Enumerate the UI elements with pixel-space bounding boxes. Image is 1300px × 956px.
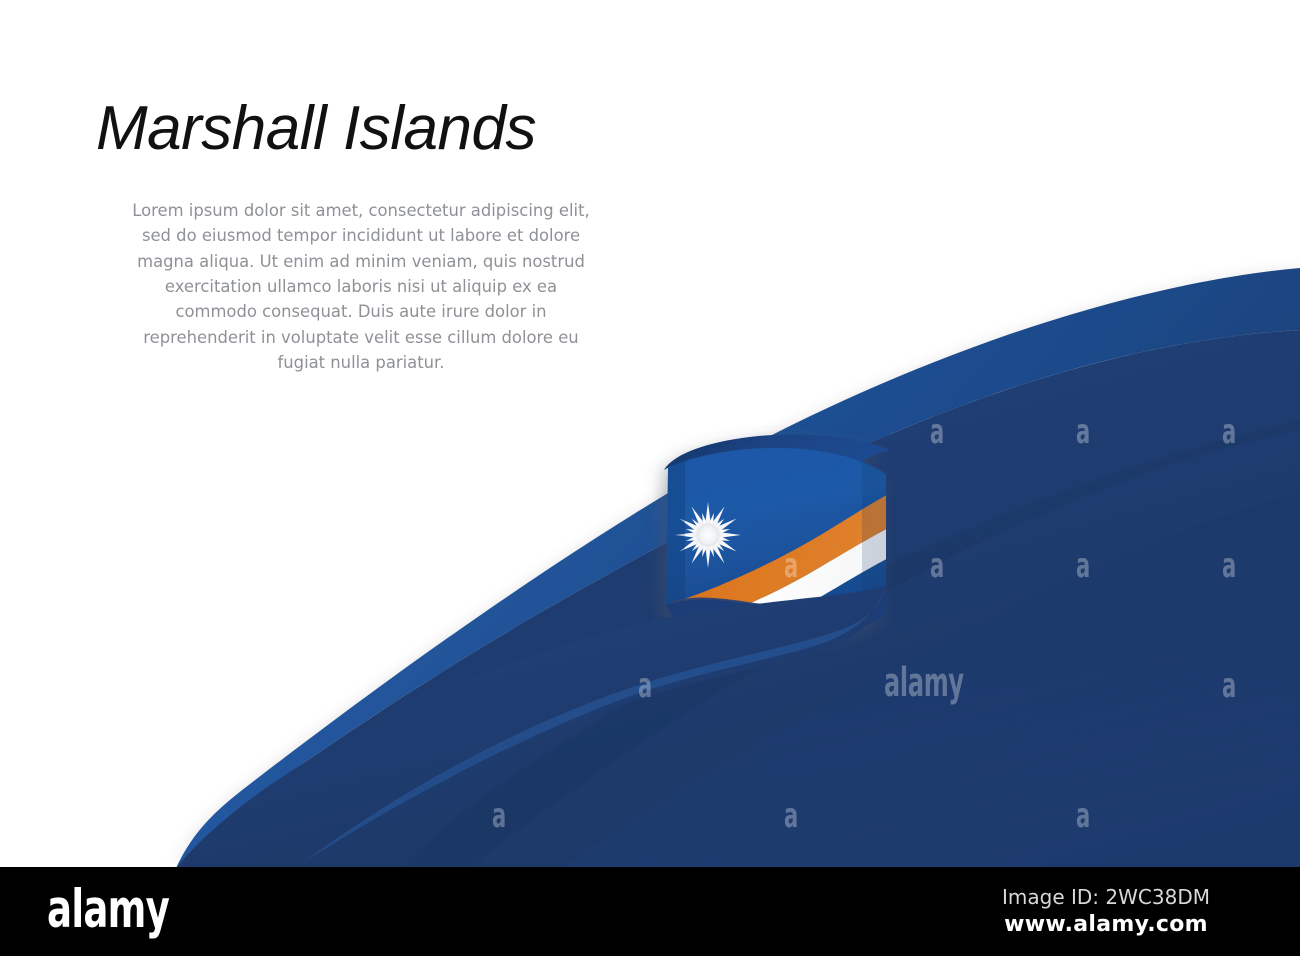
image-id-label: Image ID: 2WC38DM: [956, 884, 1256, 911]
alamy-logo: alamy: [47, 883, 169, 936]
alamy-url: www.alamy.com: [956, 911, 1256, 940]
body-paragraph: Lorem ipsum dolor sit amet, consectetur …: [130, 198, 592, 376]
footer-credit: Image ID: 2WC38DM www.alamy.com: [956, 884, 1256, 940]
footer-bar: alamy Image ID: 2WC38DM www.alamy.com: [0, 867, 1300, 956]
page-title: Marshall Islands: [96, 96, 616, 162]
text-block: Marshall Islands Lorem ipsum dolor sit a…: [96, 96, 616, 376]
poster-canvas: a a a a a a a a a a alamy a a a a Marsha…: [0, 0, 1300, 956]
